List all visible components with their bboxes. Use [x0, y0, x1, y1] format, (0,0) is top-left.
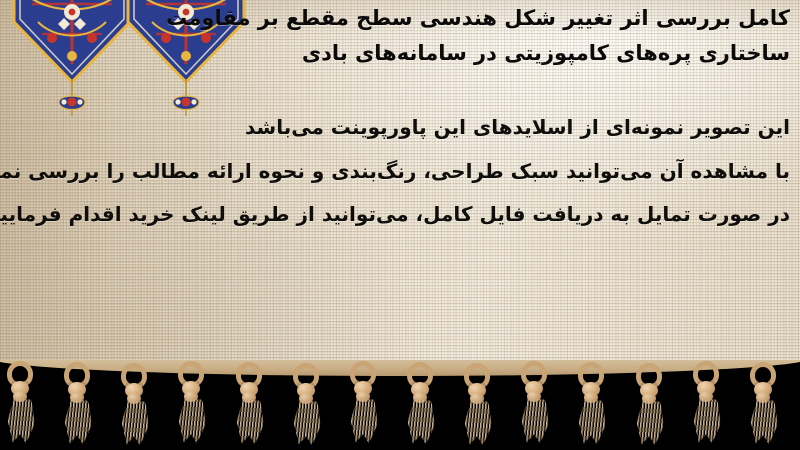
tassel-strands — [747, 399, 780, 445]
tassel — [398, 362, 442, 450]
tassel — [569, 362, 613, 450]
tassel — [512, 361, 556, 449]
tassel-strands — [119, 400, 152, 446]
slide-body-line-2: با مشاهده آن می‌توانید سبک طراحی، رنگ‌بن… — [0, 158, 790, 184]
tassel — [684, 361, 728, 449]
tassel-strands — [690, 398, 723, 444]
tassel-strands — [633, 400, 666, 446]
tassel — [341, 361, 385, 449]
tassel-strands — [176, 398, 209, 444]
tassel-strands — [405, 399, 438, 445]
slide-title-line-2: ساختاری پره‌های کامپوزیتی در سامانه‌های … — [302, 40, 790, 66]
tassel-strands — [519, 398, 552, 444]
tassel — [112, 363, 156, 450]
tassel — [741, 362, 785, 450]
tassel — [0, 361, 42, 449]
tassel — [627, 363, 671, 450]
tassel — [169, 361, 213, 449]
tassel-fringe — [0, 360, 800, 450]
slide-body-line-1: این تصویر نمونه‌ای از اسلایدهای این پاور… — [245, 114, 790, 140]
tassel — [55, 362, 99, 450]
tassel — [227, 362, 271, 450]
slide-text-block: کامل بررسی اثر تغییر شکل هندسی سطح مقطع … — [0, 0, 800, 382]
slide-body-line-3: در صورت تمایل به دریافت فایل کامل، می‌تو… — [0, 201, 790, 227]
tassel-row — [0, 360, 800, 450]
tassel-strands — [5, 398, 38, 444]
tassel-strands — [462, 400, 495, 446]
tassel-strands — [62, 399, 95, 445]
tassel-strands — [576, 399, 609, 445]
tassel-strands — [233, 399, 266, 445]
tassel-strands — [290, 400, 323, 446]
slide-canvas: کامل بررسی اثر تغییر شکل هندسی سطح مقطع … — [0, 0, 800, 450]
tassel-strands — [347, 398, 380, 444]
slide-title-line-1: کامل بررسی اثر تغییر شکل هندسی سطح مقطع … — [166, 5, 790, 31]
tassel — [455, 363, 499, 450]
tassel — [284, 363, 328, 450]
